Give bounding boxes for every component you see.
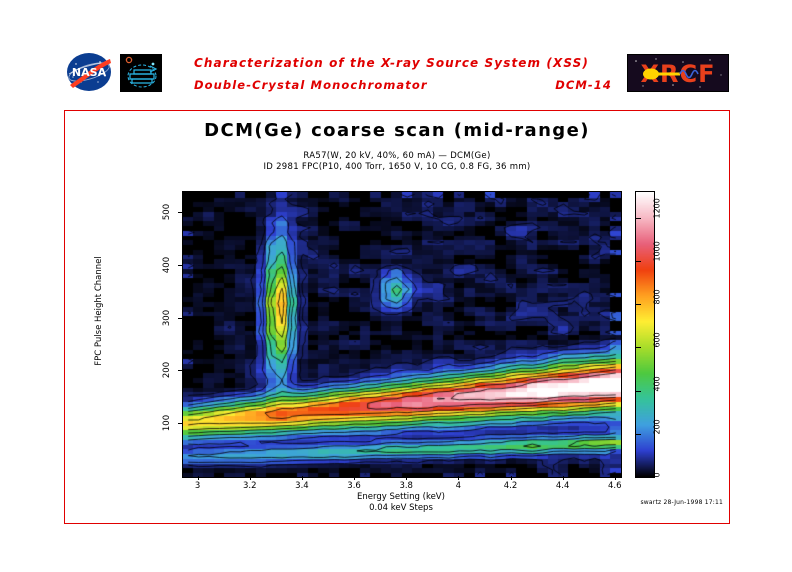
x-tick-label: 3.4 xyxy=(295,481,309,491)
x-tickmark xyxy=(511,476,512,480)
x-tickmark xyxy=(354,476,355,480)
colorbar-tick-label: 0 xyxy=(653,472,662,477)
colorbar: 020040060080010001200 xyxy=(635,191,655,478)
x-tick-label: 4.4 xyxy=(556,481,570,491)
colorbar-tick-label: 800 xyxy=(653,289,662,304)
y-tickmark xyxy=(178,265,182,266)
x-tick-label: 4.2 xyxy=(504,481,518,491)
x-tick-label: 3.2 xyxy=(243,481,257,491)
y-axis-label: FPC Pulse Height Channel xyxy=(94,211,104,411)
y-tickmark xyxy=(178,423,182,424)
colorbar-tickmark xyxy=(636,304,641,305)
slide-content-frame: DCM(Ge) coarse scan (mid-range) RA57(W, … xyxy=(64,110,730,524)
colorbar-tickmark xyxy=(636,347,641,348)
x-tickmark xyxy=(615,476,616,480)
y-tick-label: 400 xyxy=(162,254,172,276)
x-axis-sublabel: 0.04 keV Steps xyxy=(182,503,620,513)
header-line-2: Double-Crystal Monochromator xyxy=(194,78,428,92)
x-tick-label: 3.8 xyxy=(399,481,413,491)
colorbar-tick-label: 1200 xyxy=(653,198,662,218)
colorbar-tick-label: 600 xyxy=(653,333,662,348)
x-tick-label: 3.6 xyxy=(347,481,361,491)
colorbar-tick-label: 1000 xyxy=(653,241,662,261)
colorbar-tick-label: 200 xyxy=(653,419,662,434)
x-tickmark xyxy=(406,476,407,480)
header-title-block: Characterization of the X-ray Source Sys… xyxy=(194,52,614,96)
y-tick-label: 500 xyxy=(162,201,172,223)
sao-logo xyxy=(120,54,162,92)
x-tick-label: 3 xyxy=(195,481,200,491)
colorbar-tickmark xyxy=(636,218,641,219)
xrcf-logo: XRCF xyxy=(627,54,729,92)
colorbar-tickmark xyxy=(636,391,641,392)
slide-header: NASA Characterization of the X-ray Sourc… xyxy=(0,52,792,102)
colorbar-tickmark xyxy=(636,477,641,478)
x-tick-label: 4.6 xyxy=(608,481,622,491)
x-tickmark xyxy=(250,476,251,480)
document-id: DCM-14 xyxy=(555,74,612,96)
x-tickmark xyxy=(563,476,564,480)
y-tickmark xyxy=(178,212,182,213)
y-tickmark xyxy=(178,318,182,319)
x-tick-label: 4 xyxy=(456,481,461,491)
chart-title: DCM(Ge) coarse scan (mid-range) xyxy=(65,120,729,141)
colorbar-tick-label: 400 xyxy=(653,376,662,391)
y-tick-label: 200 xyxy=(162,359,172,381)
x-tickmark xyxy=(302,476,303,480)
x-tickmark xyxy=(198,476,199,480)
heatmap-canvas xyxy=(183,192,621,477)
heatmap-plot-area xyxy=(182,191,622,478)
nasa-logo: NASA xyxy=(65,52,113,92)
colorbar-tickmark xyxy=(636,434,641,435)
chart-subtitle-1: RA57(W, 20 kV, 40%, 60 mA) — DCM(Ge) xyxy=(65,151,729,161)
y-tickmark xyxy=(178,370,182,371)
y-tick-label: 100 xyxy=(162,412,172,434)
y-tick-label: 300 xyxy=(162,307,172,329)
x-tickmark xyxy=(458,476,459,480)
chart-subtitle-2: ID 2981 FPC(P10, 400 Torr, 1650 V, 10 CG… xyxy=(65,162,729,172)
x-axis-label: Energy Setting (keV) xyxy=(182,492,620,502)
credit-text: swartz 28-Jun-1998 17:11 xyxy=(563,499,723,506)
header-line-1: Characterization of the X-ray Source Sys… xyxy=(194,52,614,74)
nasa-logo-text: NASA xyxy=(72,66,107,79)
colorbar-tickmark xyxy=(636,261,641,262)
